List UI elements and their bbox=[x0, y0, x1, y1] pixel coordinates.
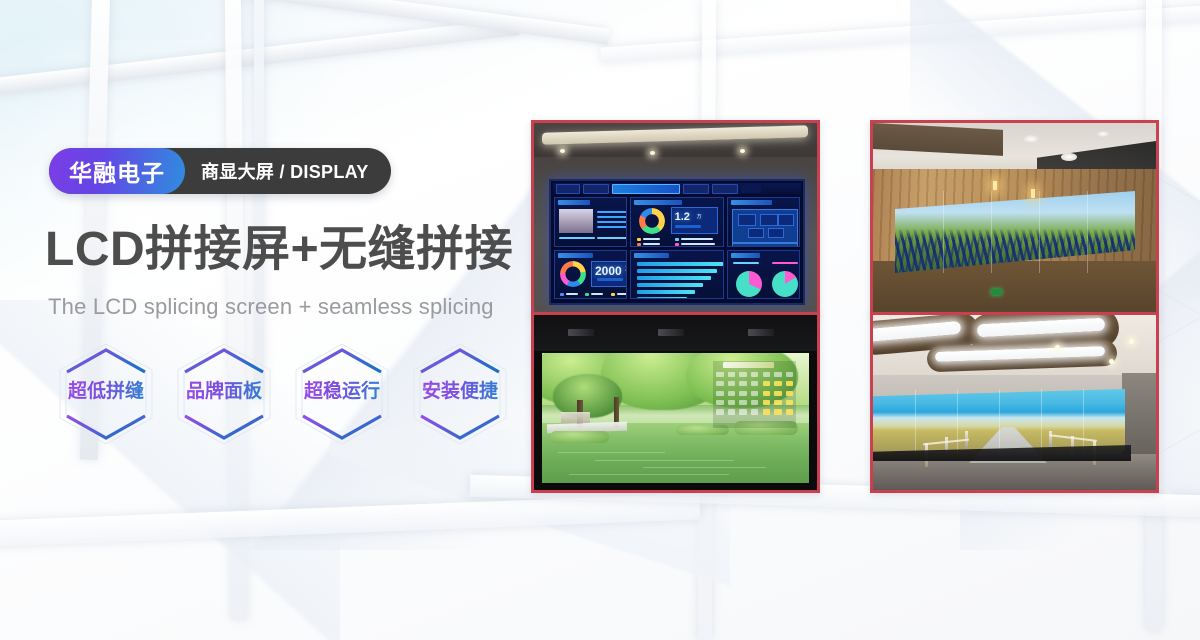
category-label: 商显大屏 / DISPLAY bbox=[185, 148, 391, 194]
banner-text-column: 华融电子 商显大屏 / DISPLAY LCD拼接屏+无缝拼接 The LCD … bbox=[45, 0, 565, 640]
feature-badge-label: 超低拼缝 bbox=[68, 376, 144, 403]
feature-badge-2: 品牌面板 bbox=[165, 330, 283, 448]
photo-solar-farm-wall bbox=[870, 120, 1159, 316]
calendar-overlay bbox=[713, 361, 796, 429]
dashboard-big-number: 1.2 bbox=[675, 212, 690, 223]
bg-beam-horizontal-3 bbox=[600, 4, 1200, 62]
page-subtitle: The LCD splicing screen + seamless splic… bbox=[48, 294, 494, 320]
promo-banner: 华融电子 商显大屏 / DISPLAY LCD拼接屏+无缝拼接 The LCD … bbox=[0, 0, 1200, 640]
video-wall-screen bbox=[542, 353, 809, 483]
feature-badge-list: 超低拼缝 品牌面板 超稳运行 bbox=[47, 330, 519, 448]
feature-badge-label: 安装便捷 bbox=[422, 376, 498, 403]
feature-badge-1: 超低拼缝 bbox=[47, 330, 165, 448]
feature-badge-3: 超稳运行 bbox=[283, 330, 401, 448]
photo-dashboard-video-wall: 1.2 万 bbox=[531, 120, 820, 316]
photo-willow-lake-wall bbox=[531, 312, 820, 493]
company-name: 华融电子 bbox=[49, 148, 185, 194]
photo-beach-boardwalk-wall bbox=[870, 312, 1159, 493]
feature-badge-label: 品牌面板 bbox=[186, 376, 262, 403]
feature-badge-4: 安装便捷 bbox=[401, 330, 519, 448]
video-wall-screen: 1.2 万 bbox=[549, 179, 805, 305]
dashboard-unit-label: 万 bbox=[625, 267, 627, 272]
brand-pill: 华融电子 商显大屏 / DISPLAY bbox=[49, 148, 391, 194]
dashboard-unit-label: 万 bbox=[697, 215, 702, 220]
exit-sign-icon bbox=[991, 289, 1002, 295]
feature-badge-label: 超稳运行 bbox=[304, 376, 380, 403]
dashboard-big-number: 2000 bbox=[595, 265, 622, 277]
page-title: LCD拼接屏+无缝拼接 bbox=[45, 225, 513, 275]
